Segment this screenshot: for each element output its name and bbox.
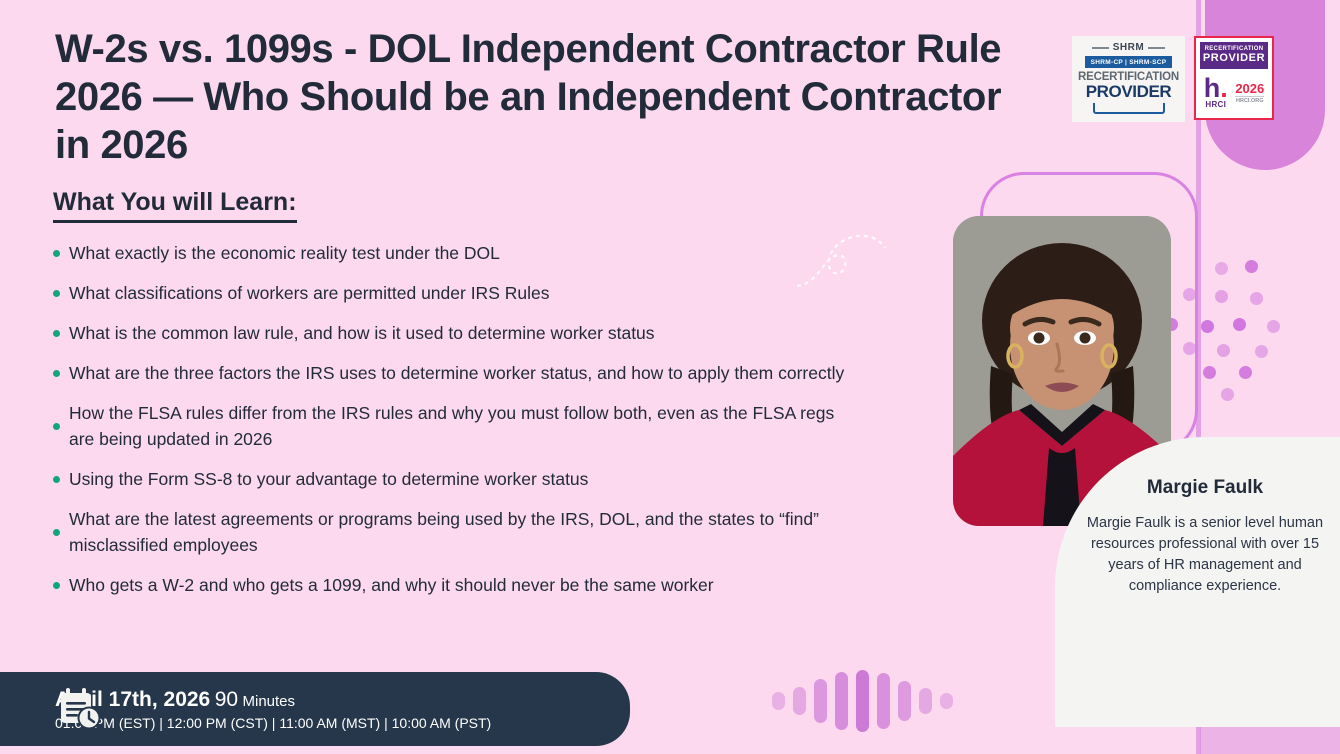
- list-item: What exactly is the economic reality tes…: [53, 240, 853, 266]
- bullet-dot-icon: [53, 423, 60, 430]
- schedule-timezones: 01:00 PM (EST) | 12:00 PM (CST) | 11:00 …: [55, 715, 491, 731]
- shrm-recertification-badge: SHRM SHRM-CP | SHRM-SCP RECERTIFICATION …: [1072, 36, 1185, 122]
- hrci-h-logo-icon: h.: [1204, 76, 1228, 100]
- hrci-body: h. HRCI 2026 HRCI.ORG: [1200, 69, 1268, 114]
- list-item-text: What exactly is the economic reality tes…: [69, 240, 500, 266]
- page-title: W-2s vs. 1099s - DOL Independent Contrac…: [55, 25, 1045, 169]
- speaker-bio-card: Margie Faulk Margie Faulk is a senior le…: [1055, 437, 1340, 727]
- shrm-provider-label: PROVIDER: [1086, 83, 1172, 101]
- hrci-provider-label: PROVIDER: [1202, 52, 1266, 64]
- schedule-duration-unit: Minutes: [243, 693, 296, 710]
- learn-bullet-list: What exactly is the economic reality tes…: [53, 240, 853, 612]
- bullet-dot-icon: [53, 290, 60, 297]
- speaker-name: Margie Faulk: [1083, 477, 1327, 499]
- bullet-dot-icon: [53, 529, 60, 536]
- hrci-recertification-badge: RECERTIFICATION PROVIDER h. HRCI 2026 HR…: [1194, 36, 1274, 120]
- bullet-dot-icon: [53, 582, 60, 589]
- speaker-bio-text: Margie Faulk is a senior level human res…: [1083, 513, 1327, 597]
- list-item: What are the three factors the IRS uses …: [53, 360, 853, 386]
- hrci-name-label: HRCI: [1204, 100, 1228, 109]
- list-item-text: Using the Form SS-8 to your advantage to…: [69, 466, 588, 492]
- hrci-header: RECERTIFICATION PROVIDER: [1200, 42, 1268, 69]
- list-item: What classifications of workers are perm…: [53, 280, 853, 306]
- list-item-text: What classifications of workers are perm…: [69, 280, 549, 306]
- dot-grid-decoration: [1205, 270, 1320, 385]
- bullet-dot-icon: [53, 330, 60, 337]
- rule-right: [1148, 47, 1165, 49]
- bullet-dot-icon: [53, 370, 60, 377]
- hrci-year-block: 2026 HRCI.ORG: [1235, 81, 1264, 104]
- shrm-cert-bar: SHRM-CP | SHRM-SCP: [1085, 56, 1173, 68]
- list-item: How the FLSA rules differ from the IRS r…: [53, 400, 853, 452]
- list-item-text: What are the latest agreements or progra…: [69, 506, 853, 558]
- bullet-dot-icon: [53, 250, 60, 257]
- schedule-duration-value: 90: [215, 688, 238, 711]
- certification-badges: SHRM SHRM-CP | SHRM-SCP RECERTIFICATION …: [1072, 36, 1274, 122]
- list-item-text: Who gets a W-2 and who gets a 1099, and …: [69, 572, 714, 598]
- hrci-logo-block: h. HRCI: [1204, 76, 1228, 109]
- calendar-clock-icon: [58, 688, 102, 730]
- shrm-org-row: SHRM: [1092, 42, 1165, 53]
- list-item-text: What are the three factors the IRS uses …: [69, 360, 844, 386]
- list-item-text: How the FLSA rules differ from the IRS r…: [69, 400, 853, 452]
- list-item-text: What is the common law rule, and how is …: [69, 320, 655, 346]
- webinar-promo-banner: W-2s vs. 1099s - DOL Independent Contrac…: [0, 0, 1340, 754]
- shrm-org-label: SHRM: [1113, 42, 1144, 53]
- list-item: What is the common law rule, and how is …: [53, 320, 853, 346]
- learn-heading: What You will Learn:: [53, 188, 297, 223]
- schedule-primary-line: April 17th, 2026 90 Minutes: [55, 688, 491, 712]
- list-item: Using the Form SS-8 to your advantage to…: [53, 466, 853, 492]
- rule-left: [1092, 47, 1109, 49]
- list-item: What are the latest agreements or progra…: [53, 506, 853, 558]
- hrci-year-label: 2026: [1235, 81, 1264, 96]
- hrci-site-label: HRCI.ORG: [1235, 96, 1264, 104]
- list-item: Who gets a W-2 and who gets a 1099, and …: [53, 572, 853, 598]
- bullet-dot-icon: [53, 476, 60, 483]
- audio-waveform-decoration: [772, 668, 982, 734]
- shrm-bracket-icon: [1093, 103, 1165, 114]
